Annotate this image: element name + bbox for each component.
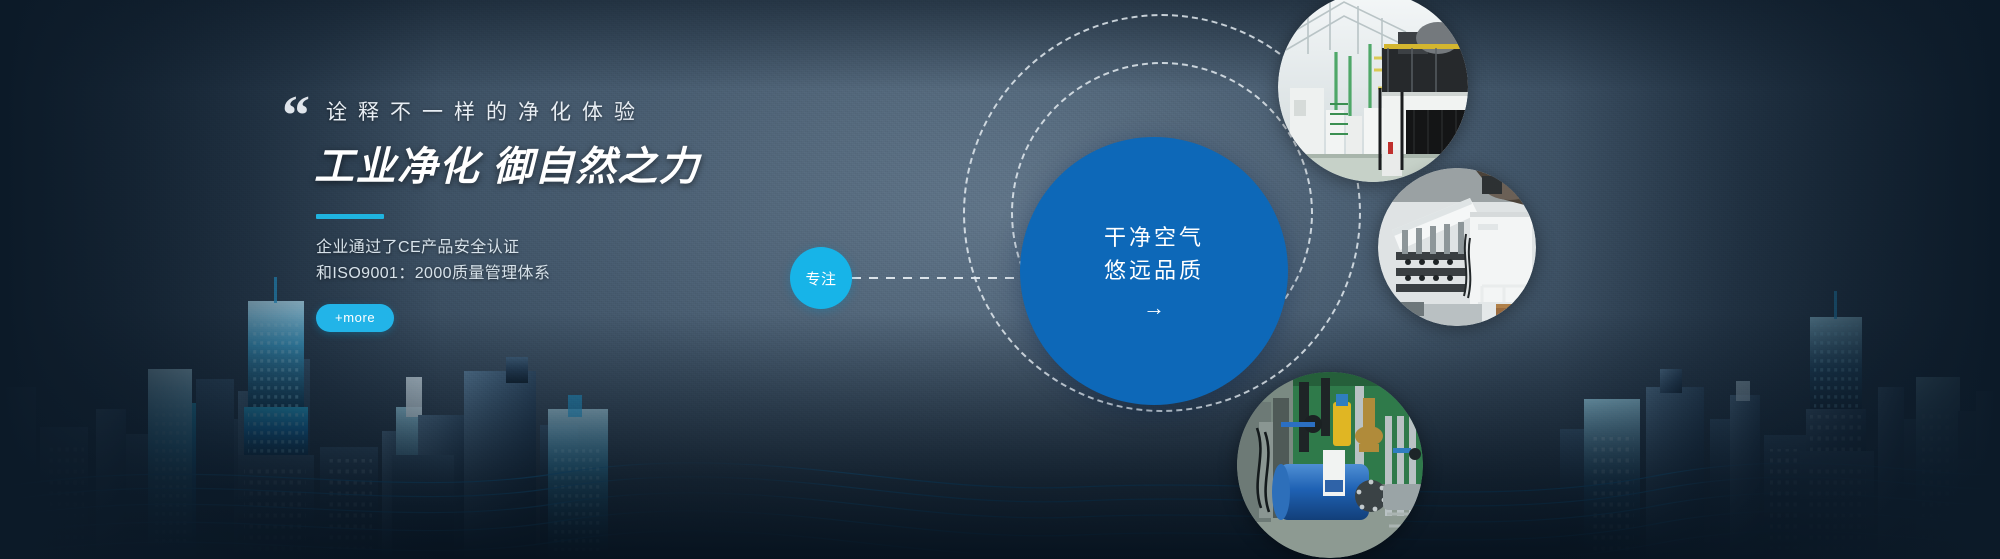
hero-headline: 工业净化 御自然之力 (310, 134, 870, 192)
main-circle-line-2: 悠远品质 (1104, 254, 1204, 287)
focus-badge-label: 专注 (805, 268, 836, 289)
hero-subtitle: 诠释不一样的净化体验 (310, 96, 870, 126)
focus-badge[interactable]: 专注 (790, 247, 852, 309)
hero-banner: “ 诠释不一样的净化体验 工业净化 御自然之力 企业通过了CE产品安全认证 和I… (0, 0, 2000, 559)
main-blue-circle[interactable]: 干净空气 悠远品质 → (1020, 137, 1288, 405)
dashed-connector-line (852, 277, 1024, 279)
quote-mark-icon: “ (282, 88, 308, 144)
hero-body-line-1: 企业通过了CE产品安全认证 (310, 235, 870, 261)
accent-divider (316, 214, 384, 219)
more-button[interactable]: +more (316, 304, 394, 332)
hero-body-line-2: 和ISO9001：2000质量管理体系 (310, 261, 870, 287)
photo-textile-machinery[interactable] (1378, 168, 1536, 326)
hero-copy-block: “ 诠释不一样的净化体验 工业净化 御自然之力 企业通过了CE产品安全认证 和I… (310, 96, 870, 332)
photo-industrial-plant-interior[interactable] (1278, 0, 1468, 182)
photo-blue-pressure-vessel[interactable] (1237, 372, 1423, 558)
arrow-right-icon: → (1143, 295, 1165, 321)
main-circle-line-1: 干净空气 (1104, 221, 1204, 254)
